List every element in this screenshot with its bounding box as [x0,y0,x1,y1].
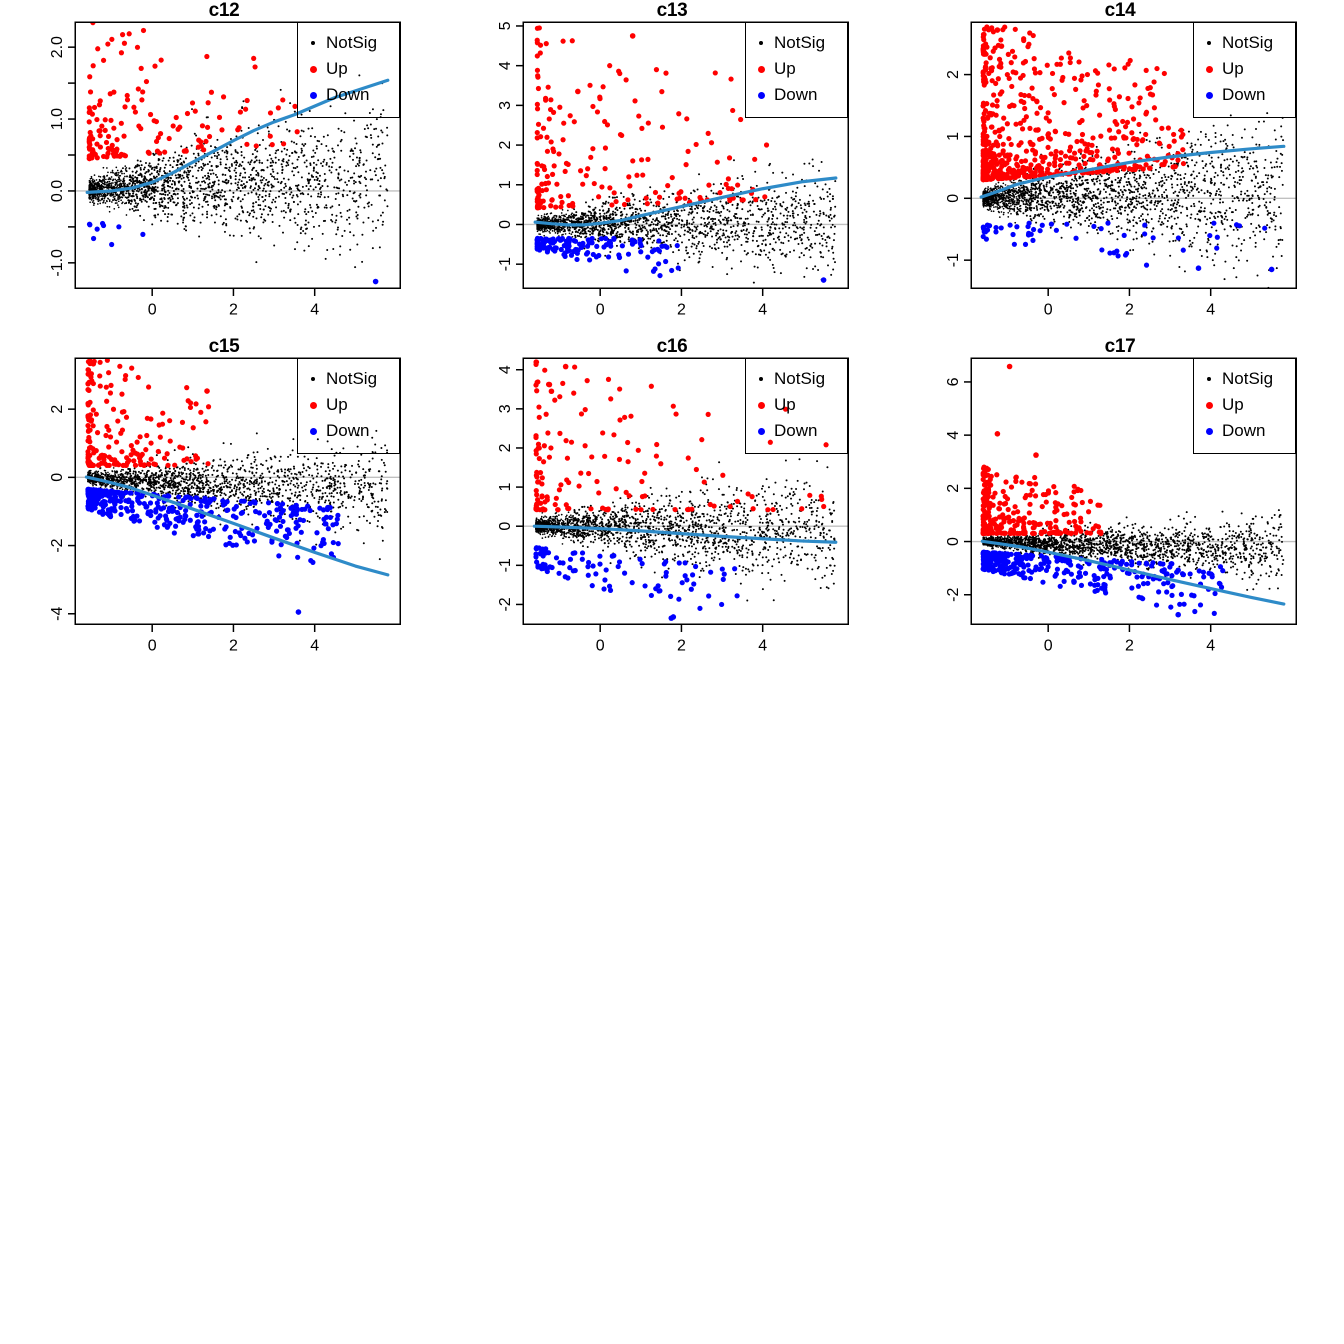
legend-row-down[interactable]: Down [1196,418,1295,444]
up-dot-icon [300,402,326,409]
legend-row-notsig[interactable]: NotSig [300,30,399,56]
legend-label-notsig: NotSig [774,369,825,389]
legend-label-down: Down [1222,85,1265,105]
up-dot-icon [300,66,326,73]
legend-label-notsig: NotSig [774,33,825,53]
plot-panel-c13[interactable]: c13 NotSig Up Down [448,0,896,336]
legend-row-notsig[interactable]: NotSig [300,366,399,392]
legend-row-up[interactable]: Up [300,392,399,418]
notsig-dot-icon [1196,41,1222,45]
up-dot-icon [748,402,774,409]
legend-c15[interactable]: NotSig Up Down [297,358,400,454]
legend-row-down[interactable]: Down [300,418,399,444]
legend-row-down[interactable]: Down [300,82,399,108]
legend-row-up[interactable]: Up [748,56,847,82]
legend-label-down: Down [774,421,817,441]
legend-label-down: Down [326,85,369,105]
legend-label-notsig: NotSig [1222,33,1273,53]
down-dot-icon [1196,92,1222,99]
notsig-dot-icon [748,41,774,45]
legend-row-notsig[interactable]: NotSig [748,366,847,392]
legend-row-down[interactable]: Down [748,418,847,444]
notsig-dot-icon [300,377,326,381]
legend-label-up: Up [326,395,348,415]
legend-label-down: Down [326,421,369,441]
legend-c17[interactable]: NotSig Up Down [1193,358,1296,454]
down-dot-icon [748,428,774,435]
notsig-dot-icon [748,377,774,381]
plot-panel-c12[interactable]: c12 NotSig Up Down [0,0,448,336]
down-dot-icon [1196,428,1222,435]
legend-c13[interactable]: NotSig Up Down [745,22,848,118]
legend-label-down: Down [774,85,817,105]
legend-c12[interactable]: NotSig Up Down [297,22,400,118]
legend-c14[interactable]: NotSig Up Down [1193,22,1296,118]
legend-c16[interactable]: NotSig Up Down [745,358,848,454]
down-dot-icon [300,428,326,435]
legend-row-down[interactable]: Down [1196,82,1295,108]
legend-label-up: Up [774,395,796,415]
legend-row-notsig[interactable]: NotSig [1196,30,1295,56]
plot-panel-c14[interactable]: c14 NotSig Up Down [896,0,1344,336]
legend-row-up[interactable]: Up [300,56,399,82]
legend-label-notsig: NotSig [326,33,377,53]
legend-row-up[interactable]: Up [748,392,847,418]
legend-row-up[interactable]: Up [1196,392,1295,418]
up-dot-icon [748,66,774,73]
legend-label-up: Up [1222,395,1244,415]
legend-row-notsig[interactable]: NotSig [1196,366,1295,392]
figure-canvas: c12 NotSig Up Down c13 NotSig [0,0,1344,1344]
legend-label-down: Down [1222,421,1265,441]
legend-label-up: Up [774,59,796,79]
up-dot-icon [1196,402,1222,409]
notsig-dot-icon [1196,377,1222,381]
up-dot-icon [1196,66,1222,73]
legend-row-up[interactable]: Up [1196,56,1295,82]
legend-row-down[interactable]: Down [748,82,847,108]
plot-panel-c17[interactable]: c17 NotSig Up Down [896,336,1344,672]
down-dot-icon [748,92,774,99]
down-dot-icon [300,92,326,99]
legend-row-notsig[interactable]: NotSig [748,30,847,56]
notsig-dot-icon [300,41,326,45]
legend-label-up: Up [326,59,348,79]
legend-label-notsig: NotSig [1222,369,1273,389]
legend-label-notsig: NotSig [326,369,377,389]
legend-label-up: Up [1222,59,1244,79]
plot-panel-c16[interactable]: c16 NotSig Up Down [448,336,896,672]
plot-panel-c15[interactable]: c15 NotSig Up Down [0,336,448,672]
